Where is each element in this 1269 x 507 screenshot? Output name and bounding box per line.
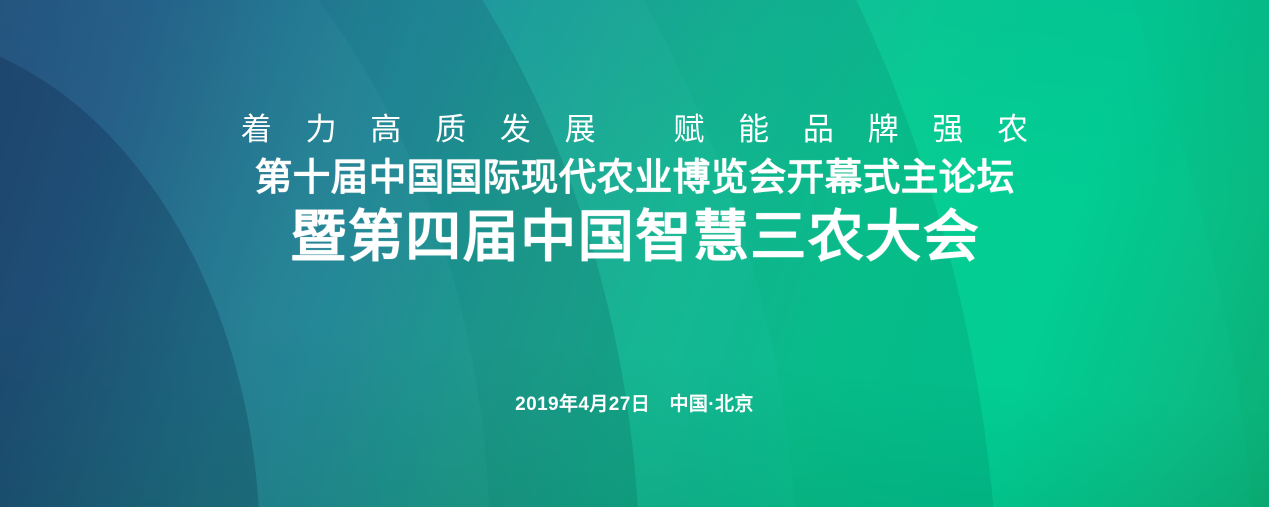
conference-banner: 着 力 高 质 发 展 赋 能 品 牌 强 农 第十届中国国际现代农业博览会开幕… xyxy=(0,0,1269,507)
banner-date-location: 2019年4月27日 中国·北京 xyxy=(0,392,1269,418)
banner-tagline: 着 力 高 质 发 展 赋 能 品 牌 强 农 xyxy=(0,108,1269,152)
banner-title-main: 第十届中国国际现代农业博览会开幕式主论坛 xyxy=(0,153,1269,201)
banner-content: 着 力 高 质 发 展 赋 能 品 牌 强 农 第十届中国国际现代农业博览会开幕… xyxy=(0,0,1269,507)
title-block: 着 力 高 质 发 展 赋 能 品 牌 强 农 第十届中国国际现代农业博览会开幕… xyxy=(0,108,1269,271)
banner-title-sub: 暨第四届中国智慧三农大会 xyxy=(0,203,1269,271)
